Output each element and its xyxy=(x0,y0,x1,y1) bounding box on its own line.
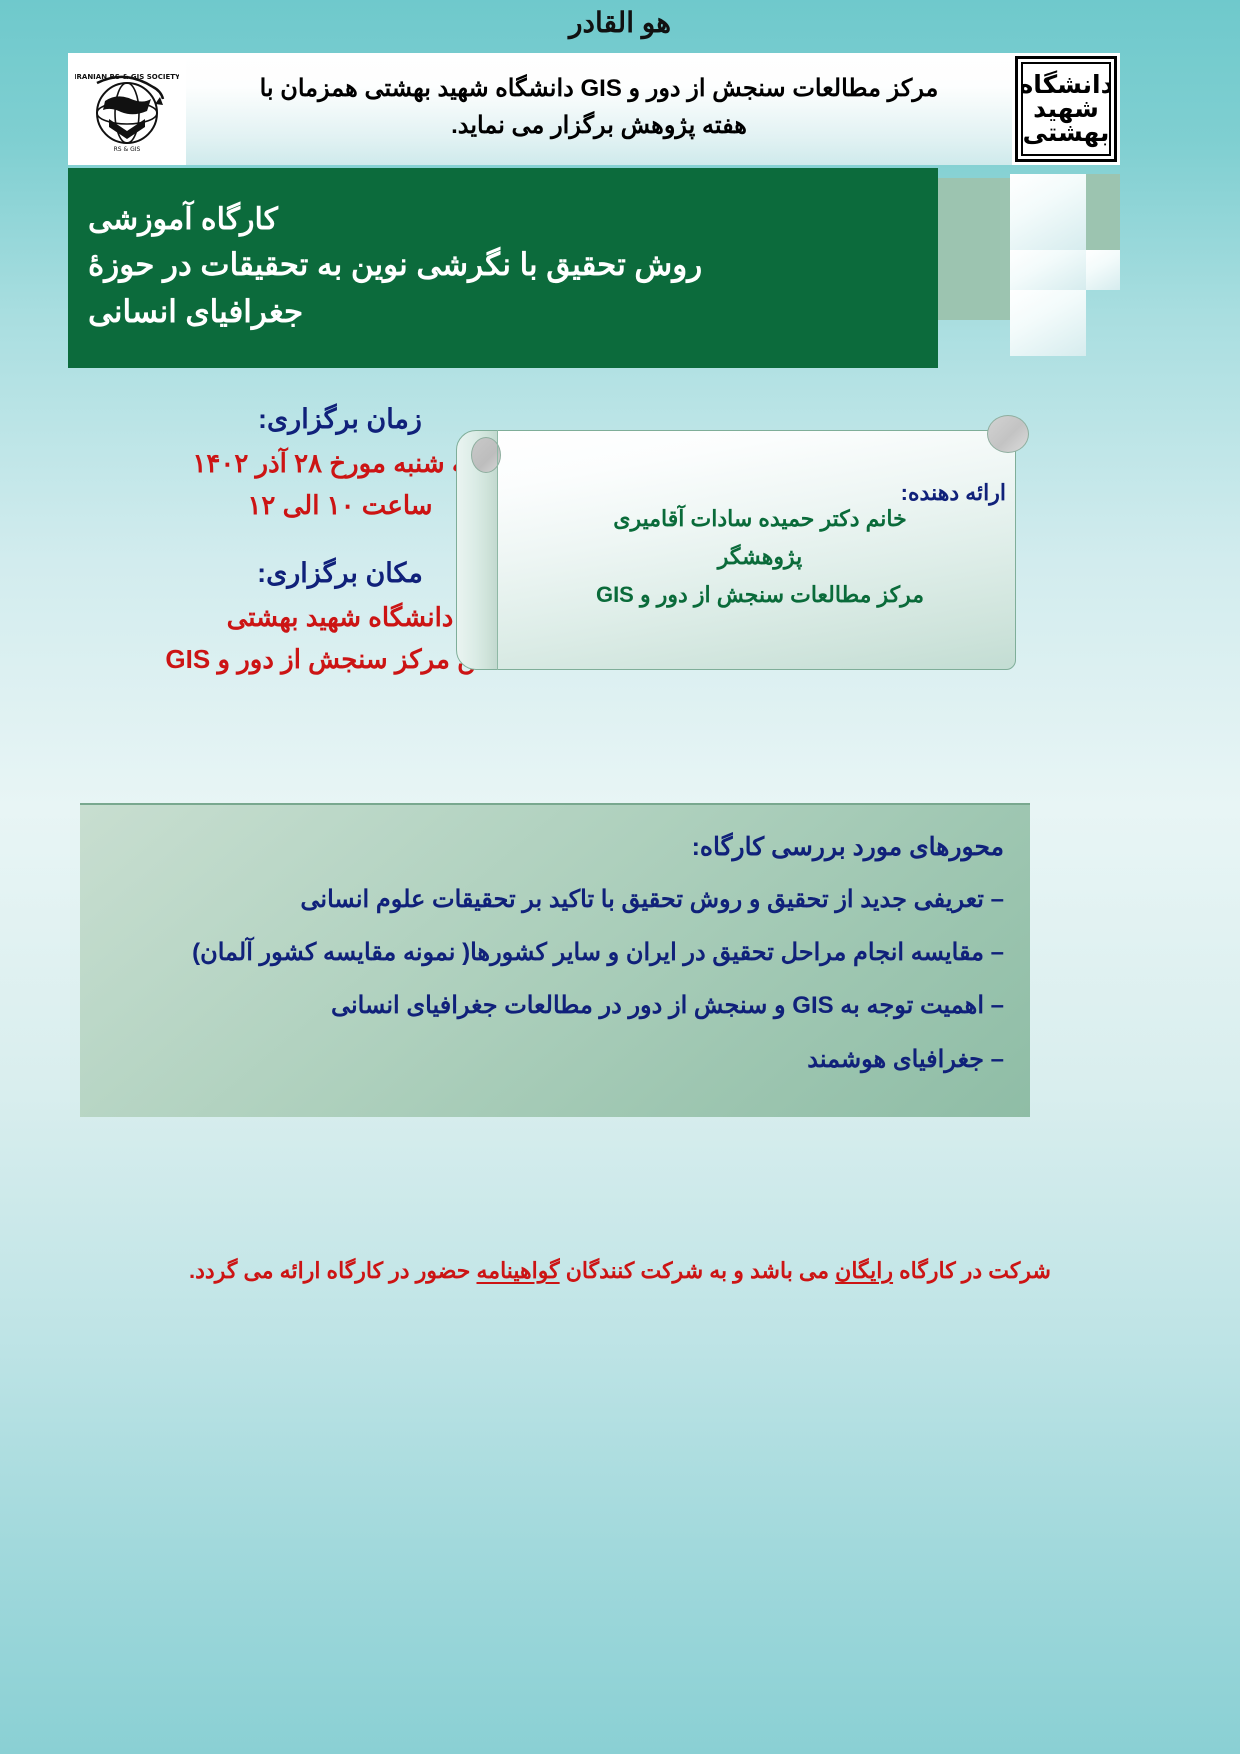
title-green-panel: کارگاه آموزشی روش تحقیق با نگرشی نوین به… xyxy=(68,168,938,368)
decor-square-2 xyxy=(1010,174,1086,250)
globe-emblem-icon: IRANIAN RS & GIS SOCIETY RS & GIS xyxy=(75,57,179,161)
header-line-1: مرکز مطالعات سنجش از دور و GIS دانشگاه ش… xyxy=(260,70,939,107)
topic-item-3: – اهمیت توجه به GIS و سنجش از دور در مطا… xyxy=(106,987,1004,1024)
footer-note: شرکت در کارگاه رایگان می باشد و به شرکت … xyxy=(0,1258,1240,1284)
logo-frame-inner: دانشگاه شهید بهشتی xyxy=(1021,62,1111,156)
footer-free-word: رایگان xyxy=(835,1258,893,1283)
topic-item-2: – مقایسه انجام مراحل تحقیق در ایران و سا… xyxy=(106,934,1004,971)
footer-part-3: حضور در کارگاه ارائه می گردد. xyxy=(189,1258,476,1283)
decor-square-3 xyxy=(1086,174,1120,250)
topics-title: محورهای مورد بررسی کارگاه: xyxy=(106,829,1004,867)
header-band: IRANIAN RS & GIS SOCIETY RS & GIS مرکز م… xyxy=(68,53,1120,165)
title-line-1: روش تحقیق با نگرشی نوین به تحقیقات در حو… xyxy=(88,242,702,289)
presenter-affiliation: مرکز مطالعات سنجش از دور و GIS xyxy=(596,576,924,614)
header-line-2: هفته پژوهش برگزار می نماید. xyxy=(451,107,747,144)
scroll-curl-left xyxy=(456,430,498,670)
scroll-curl-edge xyxy=(497,430,498,670)
header-announcement: مرکز مطالعات سنجش از دور و GIS دانشگاه ش… xyxy=(186,53,1012,165)
presenter-content: ارائه دهنده: خانم دکتر حمیده سادات آقامی… xyxy=(514,430,1006,670)
topic-item-1: – تعریفی جدید از تحقیق و روش تحقیق با تا… xyxy=(106,881,1004,918)
decor-square-4 xyxy=(1010,250,1086,290)
workshop-title-banner: کارگاه آموزشی روش تحقیق با نگرشی نوین به… xyxy=(68,168,1120,368)
title-line-2: جغرافیای انسانی xyxy=(88,289,303,336)
decor-square-8 xyxy=(1086,250,1120,290)
presenter-name: خانم دکتر حمیده سادات آقامیری xyxy=(613,500,906,538)
decor-square-7 xyxy=(1010,290,1086,356)
footer-part-2: می باشد و به شرکت کنندگان xyxy=(560,1258,836,1283)
university-logo-text: دانشگاه شهید بهشتی xyxy=(1021,73,1111,144)
logo-frame-outer: دانشگاه شهید بهشتی xyxy=(1015,56,1117,162)
svg-text:IRANIAN RS & GIS SOCIETY: IRANIAN RS & GIS SOCIETY xyxy=(75,73,179,81)
decor-square-1 xyxy=(938,178,1010,250)
footer-part-1: شرکت در کارگاه xyxy=(893,1258,1051,1283)
topic-item-4: – جغرافیای هوشمند xyxy=(106,1041,1004,1078)
basmala-text: هو القادر xyxy=(0,6,1240,39)
topics-box: محورهای مورد بررسی کارگاه: – تعریفی جدید… xyxy=(80,803,1030,1117)
svg-text:RS & GIS: RS & GIS xyxy=(114,146,141,153)
decor-square-6 xyxy=(938,250,1010,320)
shahid-beheshti-university-logo: دانشگاه شهید بهشتی xyxy=(1012,53,1120,165)
presenter-role: پژوهشگر xyxy=(718,538,802,576)
iranian-rs-gis-society-logo: IRANIAN RS & GIS SOCIETY RS & GIS xyxy=(68,53,186,165)
presenter-scroll: ارائه دهنده: خانم دکتر حمیده سادات آقامی… xyxy=(456,430,1016,670)
title-kicker: کارگاه آموزشی xyxy=(88,197,278,242)
presenter-label: ارائه دهنده: xyxy=(901,480,1006,506)
footer-certificate-word: گواهینامه xyxy=(477,1258,560,1283)
